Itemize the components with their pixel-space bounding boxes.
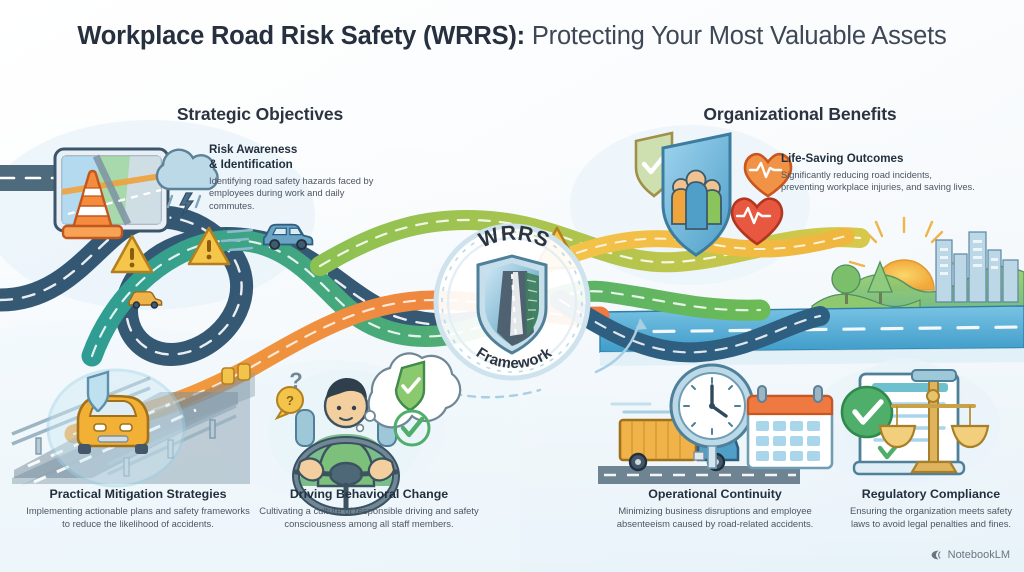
block-risk-awareness: Risk Awareness & Identification Identify… [209, 143, 385, 213]
block-life-saving-outcomes: Life-Saving Outcomes Significantly reduc… [781, 152, 977, 194]
block-regulatory-compliance: Regulatory Compliance Ensuring the organ… [845, 487, 1017, 530]
block-practical-mitigation: Practical Mitigation Strategies Implemen… [24, 487, 252, 530]
block-operational-continuity: Operational Continuity Minimizing busine… [600, 487, 830, 530]
notebooklm-spiral-icon [929, 548, 943, 562]
infographic-canvas: WRRS Framework [0, 0, 1024, 572]
block-driving-behavioral-change: Driving Behavioral Change Cultivating a … [257, 487, 481, 530]
block-title: Practical Mitigation Strategies [24, 487, 252, 503]
notebooklm-watermark: NotebookLM [929, 548, 1010, 562]
block-body: Identifying road safety hazards faced by… [209, 175, 385, 213]
block-title: Driving Behavioral Change [257, 487, 481, 503]
block-body: Implementing actionable plans and safety… [24, 505, 252, 531]
block-title: Operational Continuity [600, 487, 830, 503]
section-header-strategic-objectives: Strategic Objectives [120, 104, 400, 125]
page-title: Workplace Road Risk Safety (WRRS): Prote… [0, 22, 1024, 50]
block-title-line2: & Identification [209, 158, 293, 171]
block-title: Risk Awareness & Identification [209, 143, 385, 173]
block-body: Ensuring the organization meets safety l… [845, 505, 1017, 531]
section-header-organizational-benefits: Organizational Benefits [640, 104, 960, 125]
block-title: Regulatory Compliance [845, 487, 1017, 503]
watermark-label: NotebookLM [948, 549, 1010, 561]
block-title: Life-Saving Outcomes [781, 152, 977, 167]
block-body: Significantly reducing road incidents, p… [781, 169, 977, 194]
title-strong: Workplace Road Risk Safety (WRRS): [77, 22, 525, 50]
block-title-line1: Risk Awareness [209, 143, 297, 156]
block-body: Cultivating a culture of responsible dri… [257, 505, 481, 531]
title-light: Protecting Your Most Valuable Assets [525, 22, 947, 50]
block-body: Minimizing business disruptions and empl… [600, 505, 830, 531]
